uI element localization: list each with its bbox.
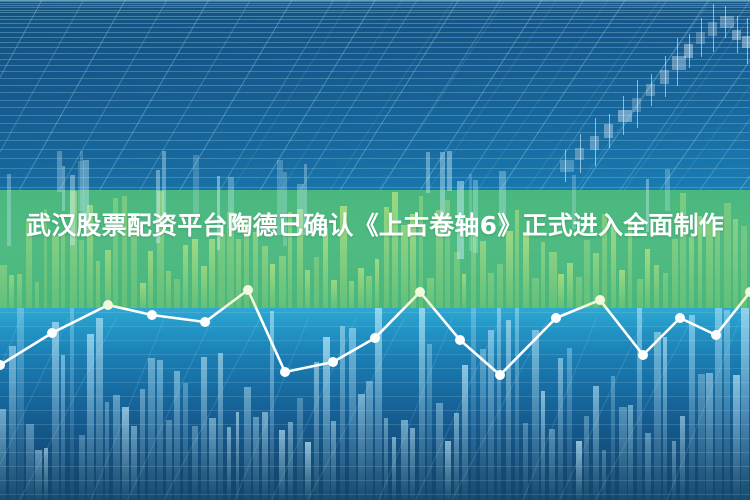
polyline-marker: [551, 313, 561, 323]
polyline-marker: [280, 367, 290, 377]
polyline-marker: [147, 310, 157, 320]
polyline-marker: [415, 287, 425, 297]
polyline-marker: [328, 357, 338, 367]
polyline-segment-upper: [0, 290, 750, 375]
polyline-marker: [455, 335, 465, 345]
polyline-marker: [595, 295, 605, 305]
headline-line-1: 武汉股票配资平台陶德已确认《上古卷轴6》正式进入全面制作: [26, 211, 724, 240]
banner-image: 武汉股票配资平台陶德已确认《上古卷轴6》正式进入全面制作: [0, 0, 750, 500]
polyline-marker: [638, 350, 648, 360]
polyline-marker: [103, 300, 113, 310]
polyline-marker: [495, 370, 505, 380]
polyline-marker: [200, 317, 210, 327]
polyline-marker: [47, 328, 57, 338]
page-title: 武汉股票配资平台陶德已确认《上古卷轴6》正式进入全面制作: [0, 205, 750, 247]
index-polyline-chart: [0, 0, 750, 500]
polyline-marker: [711, 330, 721, 340]
polyline-marker: [675, 313, 685, 323]
polyline-marker: [243, 285, 253, 295]
polyline-marker: [370, 333, 380, 343]
polyline-segment-lower: [0, 290, 750, 375]
